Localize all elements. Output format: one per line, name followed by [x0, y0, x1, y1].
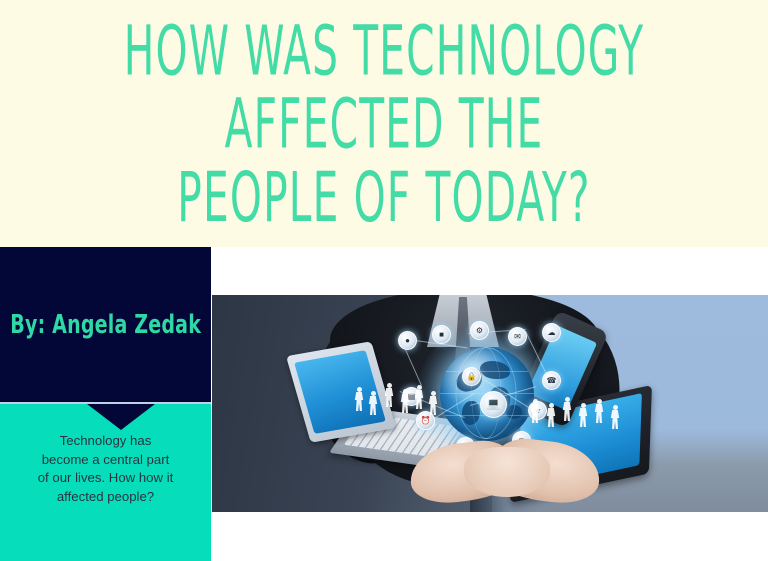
node-mail-icon: ✉ [508, 327, 527, 346]
node-monitor-icon: 💻 [480, 391, 507, 418]
people-silhouette [428, 391, 438, 415]
caption-notch-icon [87, 404, 155, 430]
people-silhouette [368, 391, 378, 415]
node-gear-icon: ⚙ [470, 321, 489, 340]
people-silhouette [562, 397, 572, 421]
presentation-slide: HOW WAS TECHNOLOGY AFFECTED THE PEOPLE O… [0, 0, 768, 561]
node-cloud-icon: ☁ [542, 323, 561, 342]
people-silhouette [384, 383, 394, 411]
author-name: By: Angela Zedak [10, 310, 201, 339]
slide-title: HOW WAS TECHNOLOGY AFFECTED THE PEOPLE O… [95, 14, 672, 233]
photo-top-gap [211, 247, 768, 295]
people-silhouette [414, 385, 424, 409]
node-lock-icon: 🔒 [462, 367, 481, 386]
photo-bottom-gap [211, 512, 768, 561]
node-chart-icon: ■ [432, 325, 451, 344]
people-silhouette [578, 403, 588, 427]
node-phone-icon: ☎ [542, 371, 561, 390]
people-silhouette [610, 405, 620, 429]
people-silhouette [530, 399, 540, 423]
node-user-icon: ● [398, 331, 417, 350]
globe-parallel [440, 371, 534, 372]
caption-text: Technology has become a central part of … [8, 432, 203, 506]
technology-photo: ● ■ ⚙ ✉ ☁ ▤ 🔒 💻 ⏰ 📷 ★ ◉ ☎ [212, 295, 768, 512]
title-banner: HOW WAS TECHNOLOGY AFFECTED THE PEOPLE O… [0, 0, 768, 247]
hands-cupped [464, 447, 550, 497]
people-silhouette [594, 399, 604, 423]
people-silhouette [546, 403, 556, 427]
people-silhouette [354, 387, 364, 411]
author-block: By: Angela Zedak [0, 247, 211, 402]
people-silhouette [400, 389, 410, 413]
